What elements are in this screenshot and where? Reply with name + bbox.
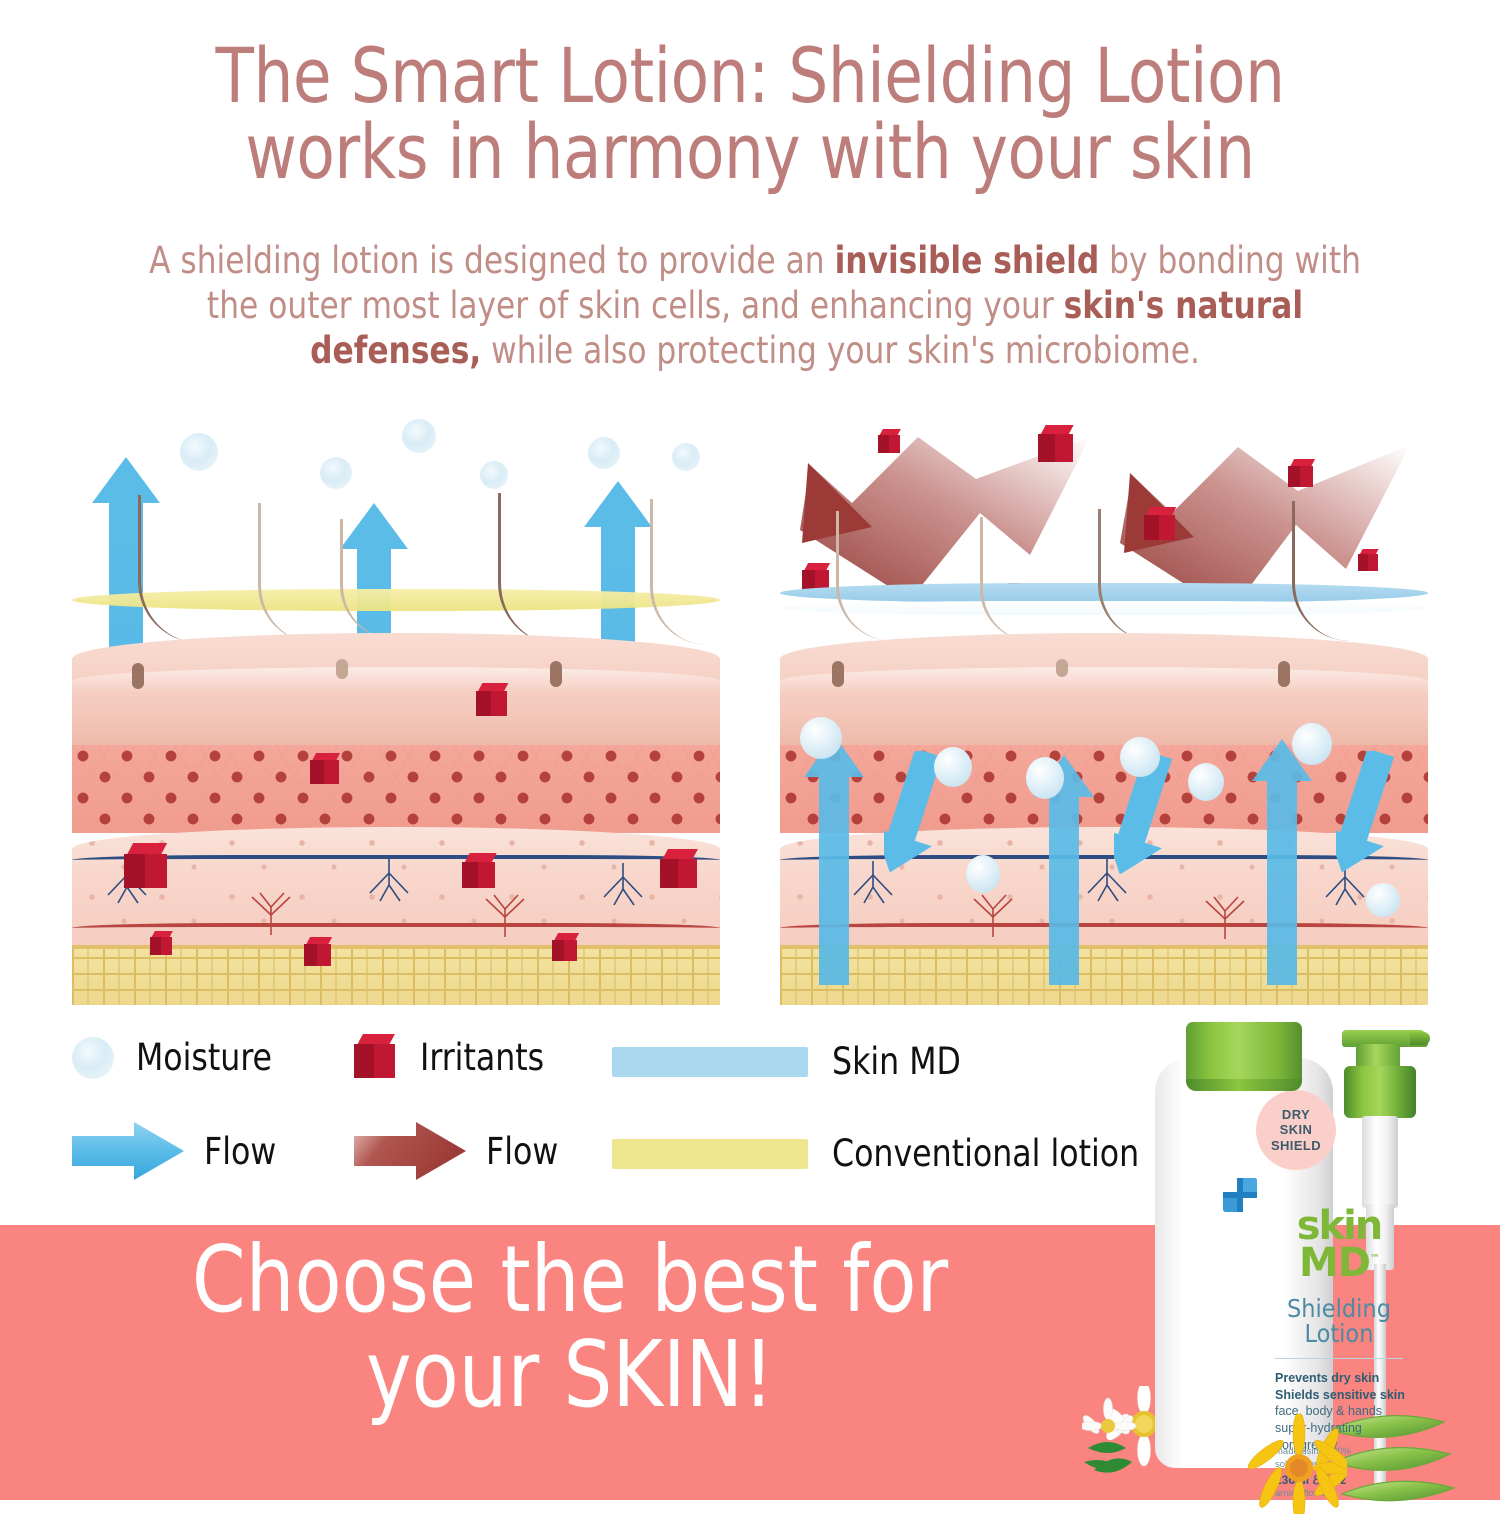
hair-strand xyxy=(138,495,200,643)
blood-vessel-artery xyxy=(780,923,1428,933)
irritant-cube xyxy=(476,683,510,717)
moisture-droplet xyxy=(934,747,972,787)
hair-follicle xyxy=(1056,659,1068,677)
subcutaneous-fat-layer xyxy=(780,945,1428,1005)
capillary-red xyxy=(1198,895,1252,939)
hair-strand xyxy=(836,511,892,641)
irritant-cube xyxy=(660,849,700,889)
epidermis-layer xyxy=(780,633,1428,745)
cell-layer xyxy=(780,745,1428,833)
legend-label: Irritants xyxy=(420,1036,544,1079)
product-name-line-2: Lotion xyxy=(1305,1319,1374,1348)
legend-label: Flow xyxy=(486,1130,558,1173)
dry-skin-shield-badge: DRY SKIN SHIELD xyxy=(1256,1090,1336,1170)
yellow-swatch-icon xyxy=(612,1139,808,1169)
page-subtitle: A shielding lotion is designed to provid… xyxy=(149,238,1362,373)
hair-strand xyxy=(498,493,560,645)
label-divider xyxy=(1275,1358,1403,1359)
subtitle-part-3: while also protecting your skin's microb… xyxy=(481,329,1200,372)
irritant-cube xyxy=(304,937,334,967)
diagram-conventional-lotion xyxy=(72,415,720,1005)
pump-tube-upper xyxy=(1362,1116,1398,1208)
capillary-red xyxy=(966,893,1020,937)
moisture-circulation-arrow-up xyxy=(804,735,864,985)
blue-flow-arrow-icon xyxy=(72,1120,184,1182)
hair-follicle xyxy=(550,661,562,687)
badge-line-2: SKIN xyxy=(1280,1122,1313,1137)
irritant-cube xyxy=(1288,459,1316,487)
hair-strand xyxy=(258,503,316,643)
trademark-symbol: ™ xyxy=(1370,1253,1379,1264)
hair-strand xyxy=(980,517,1032,641)
blue-swatch-icon xyxy=(612,1047,808,1077)
badge-text: DRY SKIN SHIELD xyxy=(1271,1107,1321,1153)
bottle-cap[interactable] xyxy=(1186,1022,1302,1084)
legend-item-irritants: Irritants xyxy=(354,1034,551,1080)
moisture-droplet xyxy=(966,855,1000,893)
irritant-cube xyxy=(1358,549,1380,571)
badge-line-1: DRY xyxy=(1282,1107,1310,1122)
irritant-cube xyxy=(462,853,498,889)
hair-strand xyxy=(340,519,394,639)
moisture-droplet xyxy=(1366,883,1400,917)
brand-name-md: MD™ xyxy=(1259,1245,1419,1282)
moisture-droplet xyxy=(1292,723,1332,765)
legend-label: Moisture xyxy=(136,1036,272,1079)
product-image: skin MD™ Shielding Lotion Prevents dry s… xyxy=(1060,1000,1500,1500)
skin-cross-section xyxy=(780,605,1428,1005)
hair-strand xyxy=(1292,501,1350,641)
moisture-droplet-icon xyxy=(72,1037,114,1079)
subtitle-emphasis-1: invisible shield xyxy=(835,239,1100,282)
moisture-circulation-arrow-down xyxy=(1336,751,1408,881)
irritant-cube xyxy=(124,843,170,889)
pump-collar xyxy=(1344,1066,1416,1118)
title-line-2: works in harmony with your skin xyxy=(245,107,1254,196)
header-section: The Smart Lotion: Shielding Lotion works… xyxy=(0,0,1500,400)
moisture-droplet xyxy=(320,457,352,489)
moisture-droplet xyxy=(800,717,842,759)
skin-cross-section xyxy=(72,605,720,1005)
capillary xyxy=(362,859,416,903)
moisture-droplet xyxy=(480,461,508,489)
brand-logo: skin MD™ xyxy=(1259,1208,1419,1282)
subtitle-part-1: A shielding lotion is designed to provid… xyxy=(149,239,835,282)
moisture-droplet xyxy=(180,433,218,471)
moisture-droplet xyxy=(1120,737,1160,777)
page-title: The Smart Lotion: Shielding Lotion works… xyxy=(106,38,1394,190)
product-name: Shielding Lotion xyxy=(1259,1296,1419,1346)
irritant-cube xyxy=(878,429,902,453)
legend: Moisture Irritants Skin MD Flow Flow Con… xyxy=(72,1028,1152,1198)
legend-label: Skin MD xyxy=(832,1040,961,1083)
moisture-circulation-arrow-up xyxy=(1252,739,1312,985)
badge-line-3: SHIELD xyxy=(1271,1138,1321,1153)
skin-md-cross-icon xyxy=(1223,1178,1257,1212)
irritant-cube xyxy=(310,753,342,785)
moisture-droplet xyxy=(1188,763,1224,801)
cell-layer xyxy=(72,745,720,833)
irritant-cube xyxy=(150,931,174,955)
moisture-droplet xyxy=(1026,757,1064,799)
irritant-cube xyxy=(1038,425,1076,463)
diagram-skin-md-shield xyxy=(780,415,1428,1005)
moisture-droplet xyxy=(402,419,436,453)
capillary-red xyxy=(478,893,532,937)
moisture-droplet xyxy=(588,437,620,469)
banner-line-2: your SKIN! xyxy=(77,1328,1063,1423)
banner-headline: Choose the best for your SKIN! xyxy=(77,1233,1063,1423)
legend-item-skin-md: Skin MD xyxy=(612,1040,968,1083)
irritant-cube-icon xyxy=(354,1034,398,1080)
hair-strand xyxy=(650,499,708,645)
claim-shields-sensitive-skin: Shields sensitive skin xyxy=(1275,1387,1425,1404)
moisture-droplet xyxy=(672,443,700,471)
hair-strand xyxy=(1098,509,1154,641)
banner-line-1: Choose the best for xyxy=(192,1226,948,1333)
hair-follicle xyxy=(1278,661,1290,687)
arnica-flower xyxy=(1243,1414,1347,1514)
capillary-red xyxy=(244,891,298,935)
hair-follicle xyxy=(336,659,348,679)
capillary xyxy=(596,863,650,907)
claim-prevents-dry-skin: Prevents dry skin xyxy=(1275,1370,1425,1387)
legend-label: Flow xyxy=(204,1130,276,1173)
hair-follicle xyxy=(832,661,844,687)
legend-item-moisture: Moisture xyxy=(72,1036,279,1079)
irritant-cube xyxy=(552,933,580,961)
epidermis-layer xyxy=(72,633,720,745)
legend-item-flow-blue: Flow xyxy=(72,1120,280,1182)
legend-item-flow-red: Flow xyxy=(354,1120,562,1182)
red-flow-arrow-icon xyxy=(354,1120,466,1182)
hair-follicle xyxy=(132,663,144,689)
